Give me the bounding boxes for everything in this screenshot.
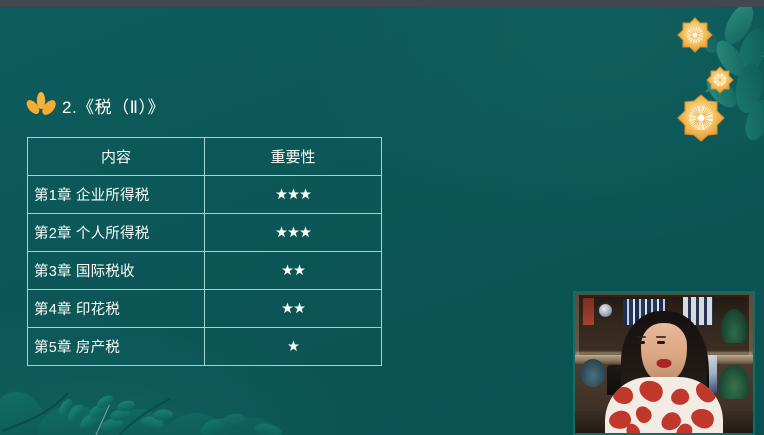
importance-stars: ★ [205,328,382,366]
importance-stars: ★★ [205,290,382,328]
chapter-name: 第3章 国际税收 [28,252,205,290]
table-row: 第3章 国际税收 ★★ [28,252,382,290]
top-window-bar [0,0,764,7]
importance-stars: ★★★ [205,214,382,252]
table-row: 第1章 企业所得税 ★★★ [28,176,382,214]
presentation-slide: 2.《税（Ⅱ）》 内容 重要性 第1章 企业所得税 ★★★ 第2章 个人所得税 … [0,0,764,435]
webcam-video-content [575,293,753,433]
importance-stars: ★★★ [205,176,382,214]
chapter-name: 第2章 个人所得税 [28,214,205,252]
chapter-name: 第1章 企业所得税 [28,176,205,214]
table-row: 第4章 印花税 ★★ [28,290,382,328]
table-header-row: 内容 重要性 [28,138,382,176]
chapter-name: 第5章 房产税 [28,328,205,366]
chapter-importance-table: 内容 重要性 第1章 企业所得税 ★★★ 第2章 个人所得税 ★★★ 第3章 国… [27,137,382,366]
presenter-webcam-feed[interactable] [573,291,755,435]
table-row: 第5章 房产税 ★ [28,328,382,366]
column-header-content: 内容 [28,138,205,176]
table-row: 第2章 个人所得税 ★★★ [28,214,382,252]
chapter-name: 第4章 印花税 [28,290,205,328]
sprout-icon [26,92,56,118]
page-title: 2.《税（Ⅱ）》 [62,93,165,118]
column-header-importance: 重要性 [205,138,382,176]
slide-title-row: 2.《税（Ⅱ）》 [26,92,165,118]
importance-stars: ★★ [205,252,382,290]
